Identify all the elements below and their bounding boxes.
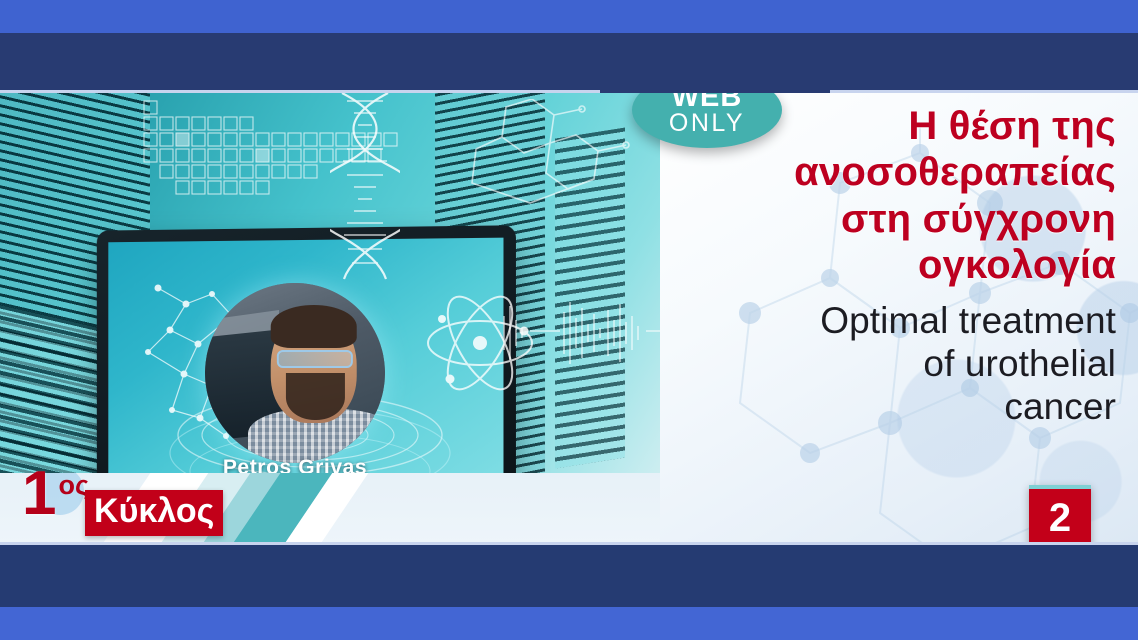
title-block: Η θέση της ανοσοθεραπείας στη σύγχρονη ο…: [696, 103, 1116, 428]
laptop-photo: Petros Grivas: [0, 93, 665, 473]
episode-number: 2: [1049, 498, 1071, 538]
top-royal-band: [0, 0, 1138, 33]
top-hairline: [0, 90, 1138, 93]
speaker-name: Petros Grivas: [205, 456, 385, 473]
english-subtitle-line: cancer: [696, 385, 1116, 428]
cycle-word: Κύκλος: [85, 490, 223, 536]
server-rack-icon: [555, 127, 625, 468]
bottom-navy-band: [0, 545, 1138, 607]
title-card-slide: Petros Grivas: [0, 0, 1138, 640]
english-subtitle-line: of urothelial: [696, 342, 1116, 385]
greek-title-line: στη σύγχρονη: [696, 196, 1116, 242]
top-navy-band: [0, 33, 1138, 93]
web-only-line2: ONLY: [669, 111, 745, 136]
cycle-number: 1: [22, 468, 56, 521]
greek-title-line: ογκολογία: [696, 242, 1116, 288]
periodic-table-icon: [140, 97, 440, 217]
english-subtitle-line: Optimal treatment: [696, 299, 1116, 342]
cycle-badge: 1οςΚύκλος: [22, 468, 223, 536]
speaker-avatar: [205, 283, 385, 463]
title-panel: Η θέση της ανοσοθεραπείας στη σύγχρονη ο…: [660, 93, 1138, 545]
navy-band-overlap: [600, 33, 830, 93]
greek-title-line: ανοσοθεραπείας: [696, 149, 1116, 195]
episode-number-badge: 2: [1029, 485, 1091, 547]
bottom-hairline: [0, 542, 1138, 545]
bottom-royal-band: [0, 607, 1138, 640]
english-subtitle: Optimal treatment of urothelial cancer: [696, 299, 1116, 429]
